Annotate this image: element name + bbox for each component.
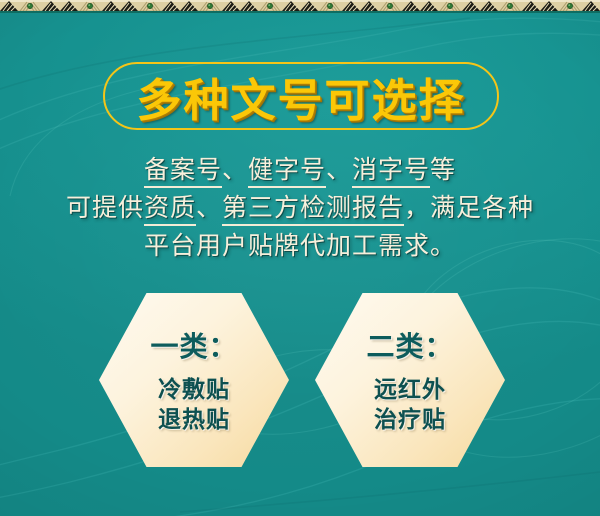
emphasised-term: 备案号 — [144, 157, 222, 188]
plain-text: 、 — [222, 157, 248, 184]
emphasised-term: 消字号 — [352, 157, 430, 188]
body-line: 备案号、健字号、消字号等 — [0, 152, 600, 190]
plain-text: 可提供 — [66, 195, 144, 222]
plain-text: 平台用户贴牌代加工需求。 — [144, 233, 456, 260]
page-title: 多种文号可选择 — [103, 62, 499, 130]
plain-text: 、 — [326, 157, 352, 184]
emphasised-term: 资质 — [144, 195, 196, 226]
plain-text: 、 — [196, 195, 222, 222]
top-ornamental-border — [0, 0, 600, 13]
emphasised-term: 健字号 — [248, 157, 326, 188]
plain-text: 等 — [430, 157, 456, 184]
body-line: 平台用户贴牌代加工需求。 — [0, 228, 600, 266]
emphasised-term: 第三方检测报告 — [222, 195, 404, 226]
body-line: 可提供资质、第三方检测报告，满足各种 — [0, 190, 600, 228]
plain-text: ，满足各种 — [404, 195, 534, 222]
body-paragraph: 备案号、健字号、消字号等 可提供资质、第三方检测报告，满足各种 平台用户贴牌代加… — [0, 152, 600, 266]
promotional-poster: 多种文号可选择 备案号、健字号、消字号等 可提供资质、第三方检测报告，满足各种 … — [0, 0, 600, 516]
ornamental-chevron-band-icon — [0, 0, 600, 13]
